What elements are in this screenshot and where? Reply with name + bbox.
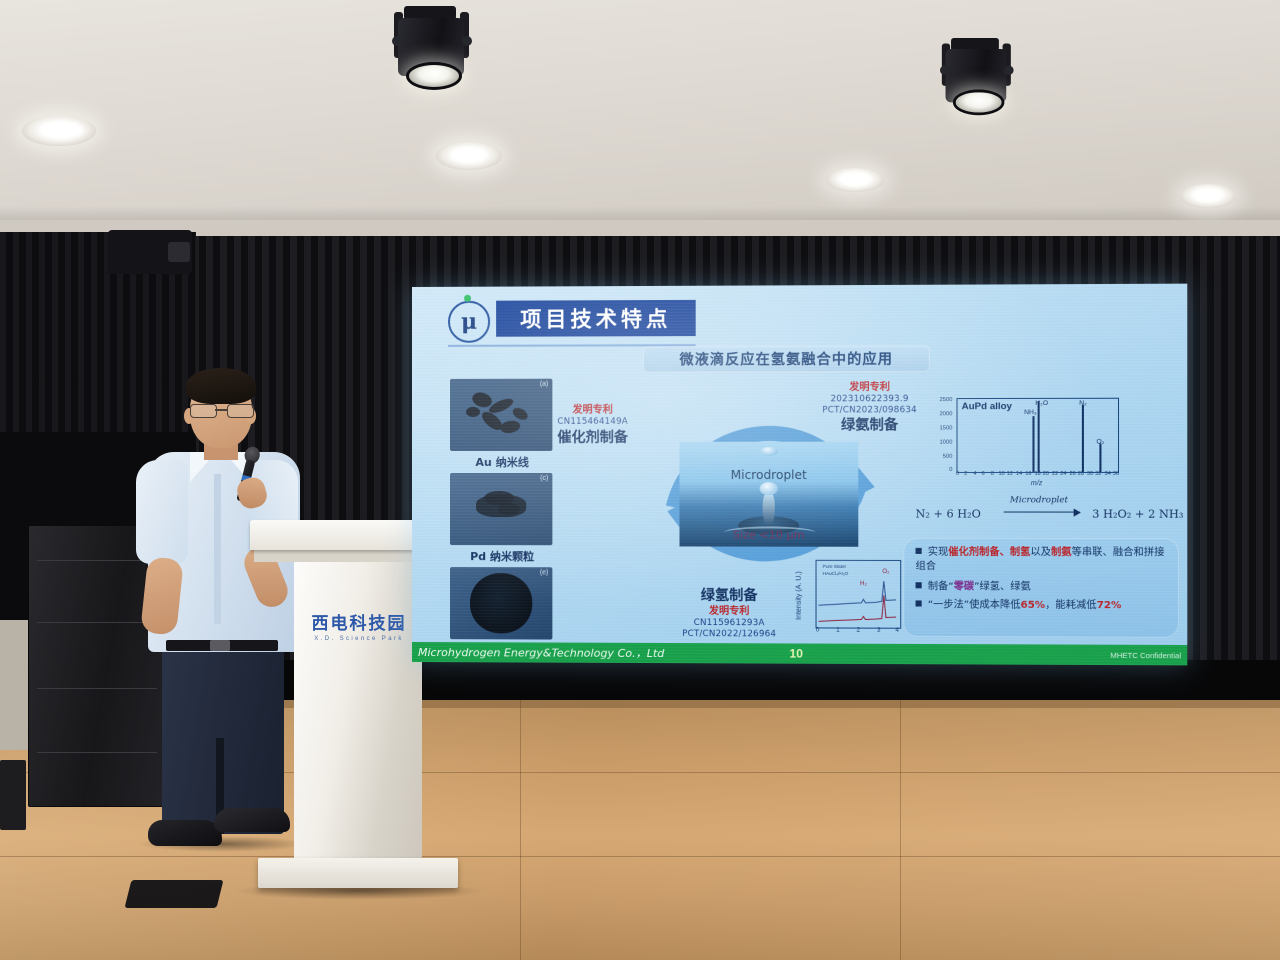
- bullet-square-icon: [916, 548, 922, 554]
- bullet-3-pre: “一步法”使成本降低: [928, 599, 1021, 610]
- y-tick: 1000: [940, 440, 953, 446]
- bullet-1-hl2: 制氨: [1051, 547, 1072, 558]
- shoe-left: [148, 820, 222, 846]
- y-tick: 500: [943, 454, 953, 460]
- presentation-photo: 西电科技园 X.D. Science Park μ 项目技术特点 微液滴反应在氢…: [0, 0, 1280, 960]
- patent-number: 202310622393.9: [803, 394, 936, 405]
- microdroplet-image: Microdroplet Size <10 μm: [679, 442, 858, 547]
- ceiling-downlight-glow: [838, 173, 872, 186]
- floor-seam: [520, 700, 521, 960]
- gas-chromatogram-chart: Intensity (A. U.) Pure Water HAuCl₄/H₂O …: [793, 558, 903, 649]
- tem-particle: [499, 419, 521, 434]
- patent-pct: PCT/CN2023/098634: [803, 405, 936, 416]
- tem-panel-tag: (e): [540, 569, 549, 576]
- slide-footer-bar: Microhydrogen Energy&Technology Co.，Ltd …: [412, 642, 1187, 665]
- podium-logo-en: X.D. Science Park: [302, 636, 416, 642]
- x-tick: 12: [1007, 471, 1013, 477]
- podium-logo: 西电科技园 X.D. Science Park: [302, 615, 416, 642]
- key-points-card: 实现催化剂制备、制氢以及制氨等串联、融合和拼接组合 制备“零碳”绿氢、绿氨 “一…: [903, 538, 1179, 638]
- patent-label: 发明专利: [532, 405, 653, 417]
- chair: [0, 760, 26, 830]
- x-tick: 18: [1035, 471, 1041, 477]
- slide-title: 项目技术特点: [520, 303, 671, 334]
- x-tick: 28: [1078, 471, 1084, 477]
- y-tick: 2000: [940, 411, 953, 417]
- patent-stage: 绿氨制备: [803, 417, 936, 434]
- patent-number: CN115961293A: [661, 618, 797, 629]
- patent-stage: 催化剂制备: [532, 429, 653, 446]
- patent-block-green-hydrogen: 绿氢制备 发明专利 CN115961293A PCT/CN2022/126964: [661, 588, 797, 640]
- peak-label-o2: O₂: [1096, 438, 1104, 445]
- splash-bead: [760, 482, 778, 495]
- bullet-2-hl1: 零碳: [954, 581, 975, 592]
- hair: [186, 368, 256, 404]
- belt-buckle: [210, 640, 230, 651]
- x-tick: 24: [1060, 471, 1066, 477]
- peak-o2: [1099, 444, 1101, 472]
- tem-caption-au: Au 纳米线: [436, 454, 568, 470]
- side-table: [0, 620, 28, 750]
- slide-subtitle: 微液滴反应在氢氨融合中的应用: [679, 349, 893, 370]
- spotlight-knob: [392, 36, 402, 46]
- company-logo-icon: μ: [448, 301, 490, 343]
- mass-spectrum-plot: AuPd alloy NH₃ H₂O N₂ O₂: [956, 398, 1119, 473]
- droplet-splash: [755, 482, 783, 532]
- tem-image-aupd-alloy: (e): [450, 567, 552, 639]
- ceiling-downlight-glow: [450, 148, 488, 163]
- tem-image-pd-nanoparticle: (c): [450, 473, 552, 545]
- tem-caption-pd: Pd 纳米颗粒: [436, 548, 568, 564]
- x-tick: 14: [1016, 471, 1022, 477]
- bullet-1-mid: 以及: [1030, 547, 1051, 558]
- x-tick: 10: [999, 471, 1005, 477]
- bullet-3-post: ，能耗减低: [1045, 600, 1097, 611]
- peak-h2o: [1038, 401, 1040, 472]
- footer-page-number: 10: [789, 646, 803, 660]
- spotlight-lens: [406, 62, 462, 90]
- peak-label-nh3: NH₃: [1024, 409, 1037, 416]
- spotlight-knob: [940, 66, 949, 75]
- podium-base: [258, 858, 458, 888]
- mass-spectrum-x-label: m/z: [956, 480, 1116, 487]
- splash-column: [763, 492, 775, 526]
- equation-reactants: N₂ + 6 H₂O: [916, 507, 981, 520]
- x-tick: 22: [1052, 471, 1058, 477]
- spotlight-lens: [953, 90, 1005, 116]
- x-tick: 2: [964, 471, 967, 477]
- chromatogram-peak-o2: O₂: [882, 569, 889, 575]
- eyeglasses: [190, 404, 252, 417]
- bullet-square-icon: [916, 600, 922, 606]
- projection-screen: μ 项目技术特点 微液滴反应在氢氨融合中的应用 (a) Au 纳米线: [412, 284, 1187, 666]
- microdroplet-label: Microdroplet: [679, 468, 858, 482]
- patent-block-catalyst: 发明专利 CN115464149A 催化剂制备: [532, 405, 653, 447]
- eyeglass-bridge: [215, 409, 227, 411]
- bullet-item-2: 制备“零碳”绿氢、绿氨: [916, 580, 1173, 595]
- x-tick: 1: [836, 626, 840, 633]
- bullet-2-pre: 制备“: [928, 581, 954, 592]
- x-tick: 8: [991, 471, 994, 477]
- x-tick: 32: [1095, 471, 1101, 477]
- y-tick: 0: [949, 467, 952, 473]
- peak-label-n2: N₂: [1079, 400, 1087, 407]
- x-tick: 26: [1070, 471, 1076, 477]
- shirt-sleeve-left: [136, 460, 188, 564]
- footer-company: Microhydrogen Energy&Technology Co.，Ltd: [418, 644, 664, 661]
- chromatogram-x-axis: 0 1 2 3 4: [816, 626, 900, 636]
- logo-mu-glyph: μ: [461, 311, 477, 333]
- x-tick: 4: [973, 471, 976, 477]
- tem-panel-tag: (a): [540, 381, 549, 388]
- mass-spectrum-chart: 2500 2000 1500 1000 500 0 AuPd alloy NH₃…: [930, 396, 1121, 492]
- podium-column: [294, 562, 422, 862]
- x-tick: 3: [877, 627, 881, 634]
- eyeglass-lens-right: [227, 404, 254, 418]
- ceiling: [0, 0, 1280, 232]
- patent-number: CN115464149A: [532, 417, 653, 428]
- bullet-3-hl1: 65%: [1021, 600, 1046, 611]
- bullet-1-pre: 实现: [928, 547, 948, 558]
- droplet-icon: [761, 447, 778, 456]
- x-tick: 2: [857, 627, 861, 634]
- ceiling-downlight-glow: [1192, 189, 1224, 202]
- patent-block-green-ammonia: 发明专利 202310622393.9 PCT/CN2023/098634 绿氨…: [803, 382, 936, 435]
- droplet-size-label: Size <10 μm: [679, 528, 858, 541]
- chromatogram-y-label: Intensity (A. U.): [796, 571, 803, 620]
- mass-spectrum-y-axis: 2500 2000 1500 1000 500 0: [930, 396, 955, 471]
- bullet-item-3: “一步法”使成本降低65%，能耗减低72%: [916, 598, 1173, 613]
- footer-confidential: MHETC Confidential: [1110, 650, 1181, 659]
- equation-products: 3 H₂O₂ + 2 NH₃: [1092, 508, 1183, 521]
- peak-n2: [1082, 405, 1084, 472]
- equation-condition: Microdroplet: [1010, 495, 1068, 505]
- x-tick: 34: [1105, 471, 1111, 477]
- chromatogram-peak-h2: H₂: [860, 581, 867, 587]
- tem-panel-tag: (c): [540, 475, 548, 482]
- mass-spectrum-title: AuPd alloy: [962, 401, 1012, 412]
- x-tick: 4: [895, 627, 899, 634]
- bullet-3-hl2: 72%: [1097, 600, 1122, 611]
- bullet-1-hl1: 催化剂制备、制氢: [948, 547, 1030, 558]
- patent-pct: PCT/CN2022/126964: [661, 629, 797, 640]
- eyeglass-lens-left: [190, 404, 217, 418]
- x-tick: 6: [982, 471, 985, 477]
- bullet-square-icon: [916, 582, 922, 588]
- tem-particle: [466, 407, 480, 417]
- peak-nh3: [1032, 416, 1034, 472]
- peak-label-h2o: H₂O: [1035, 400, 1048, 407]
- spotlight-knob: [1004, 66, 1013, 75]
- equation-arrow-icon: [1004, 512, 1080, 513]
- slide-title-bar: 项目技术特点: [496, 300, 696, 337]
- bullet-2-post: ”绿氢、绿氨: [974, 581, 1031, 592]
- patent-label: 发明专利: [803, 382, 936, 395]
- floor-seam: [900, 700, 901, 960]
- podium-logo-cn: 西电科技园: [302, 615, 416, 634]
- y-tick: 1500: [940, 425, 953, 431]
- tem-particle: [470, 573, 532, 633]
- wall-mounted-projector: [108, 230, 192, 274]
- x-tick: 0: [816, 626, 820, 633]
- spotlight-knob: [462, 36, 472, 46]
- tem-particle: [498, 503, 520, 515]
- presentation-slide: μ 项目技术特点 微液滴反应在氢氨融合中的应用 (a) Au 纳米线: [412, 284, 1187, 666]
- patent-stage: 绿氢制备: [661, 588, 797, 606]
- y-tick: 2500: [940, 397, 953, 403]
- x-tick: 36: [1113, 471, 1119, 477]
- x-tick: 0: [956, 471, 959, 477]
- logo-green-dot-icon: [464, 295, 471, 302]
- x-tick: 20: [1043, 471, 1049, 477]
- chromatogram-plot: Pure Water HAuCl₄/H₂O H₂ O₂: [816, 560, 902, 629]
- shirt-placket: [214, 474, 221, 624]
- slide-subtitle-pill: 微液滴反应在氢氨融合中的应用: [643, 345, 930, 372]
- patent-label: 发明专利: [661, 606, 797, 619]
- bullet-item-1: 实现催化剂制备、制氢以及制氨等串联、融合和拼接组合: [916, 546, 1173, 575]
- reaction-equation: N₂ + 6 H₂O Microdroplet 3 H₂O₂ + 2 NH₃: [916, 497, 1173, 524]
- ceiling-downlight-glow: [40, 122, 84, 139]
- x-tick: 30: [1087, 471, 1093, 477]
- x-tick: 16: [1025, 471, 1031, 477]
